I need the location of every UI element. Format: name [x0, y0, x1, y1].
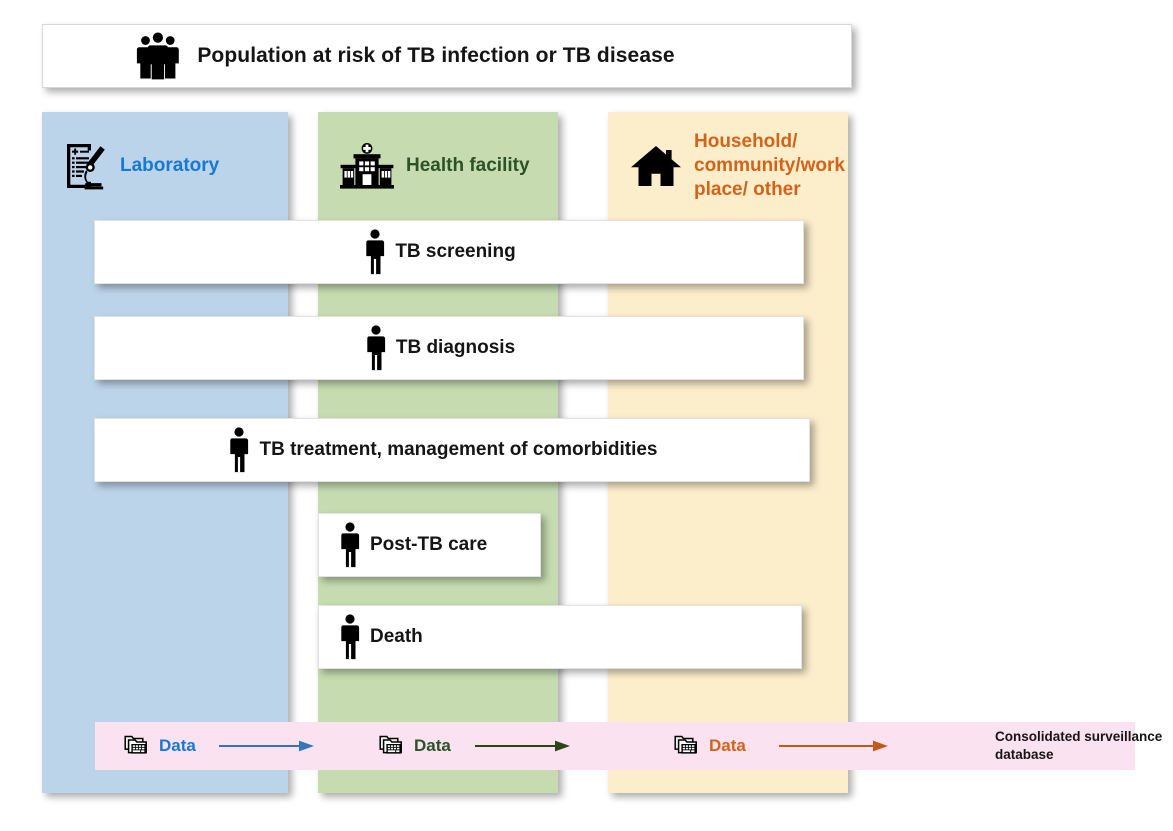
- person-icon: [339, 614, 361, 660]
- column-household-community-label: Household/ community/work place/ other: [694, 130, 836, 203]
- arrow-household-to-database: [779, 739, 889, 753]
- process-bar-tb-screening: TB screening: [94, 220, 804, 284]
- process-bar-death-content: Death: [339, 614, 423, 660]
- column-health-facility-label: Health facility: [406, 154, 530, 178]
- diagram-canvas: Population at risk of TB infection or TB…: [0, 0, 1173, 831]
- data-item-household: Data: [673, 732, 746, 760]
- population-banner-content: Population at risk of TB infection or TB…: [135, 32, 674, 80]
- consolidated-database-label: Consolidated surveillance database: [995, 728, 1171, 764]
- data-item-laboratory-label: Data: [159, 736, 196, 756]
- process-bar-tb-treatment: TB treatment, management of comorbiditie…: [94, 418, 810, 482]
- process-bar-post-tb-care: Post-TB care: [318, 513, 541, 577]
- person-icon: [339, 522, 361, 568]
- data-item-health-facility-label: Data: [414, 736, 451, 756]
- arrow-laboratory-to-health: [219, 739, 315, 753]
- person-icon: [228, 427, 250, 473]
- process-bar-tb-screening-label: TB screening: [395, 241, 515, 263]
- column-household-community-header: Household/ community/work place/ other: [608, 112, 848, 220]
- microscope-report-icon: [64, 142, 108, 190]
- arrow-health-to-household: [475, 739, 571, 753]
- process-bar-death-label: Death: [370, 626, 423, 648]
- data-item-health-facility: Data: [378, 732, 451, 760]
- files-stack-icon: [123, 732, 151, 760]
- process-bar-tb-diagnosis-content: TB diagnosis: [365, 325, 515, 371]
- process-bar-tb-screening-content: TB screening: [364, 229, 515, 275]
- column-laboratory-header: Laboratory: [42, 112, 288, 220]
- house-icon: [630, 144, 682, 188]
- population-banner-title: Population at risk of TB infection or TB…: [197, 44, 674, 68]
- column-laboratory-label: Laboratory: [120, 154, 219, 178]
- files-stack-icon: [673, 732, 701, 760]
- process-bar-post-tb-care-content: Post-TB care: [339, 522, 487, 568]
- data-flow-strip: Data: [95, 722, 1135, 770]
- process-bar-post-tb-care-label: Post-TB care: [370, 534, 487, 556]
- data-item-laboratory: Data: [123, 732, 196, 760]
- files-stack-icon: [378, 732, 406, 760]
- person-icon: [364, 229, 386, 275]
- column-health-facility-header: Health facility: [318, 112, 558, 220]
- people-group-icon: [135, 32, 181, 80]
- process-bar-tb-diagnosis: TB diagnosis: [94, 316, 804, 380]
- process-bar-tb-treatment-content: TB treatment, management of comorbiditie…: [228, 427, 657, 473]
- process-bar-tb-diagnosis-label: TB diagnosis: [396, 337, 515, 359]
- population-banner: Population at risk of TB infection or TB…: [42, 24, 852, 88]
- hospital-building-icon: [340, 143, 394, 189]
- data-item-household-label: Data: [709, 736, 746, 756]
- person-icon: [365, 325, 387, 371]
- process-bar-tb-treatment-label: TB treatment, management of comorbiditie…: [259, 439, 657, 461]
- process-bar-death: Death: [318, 605, 802, 669]
